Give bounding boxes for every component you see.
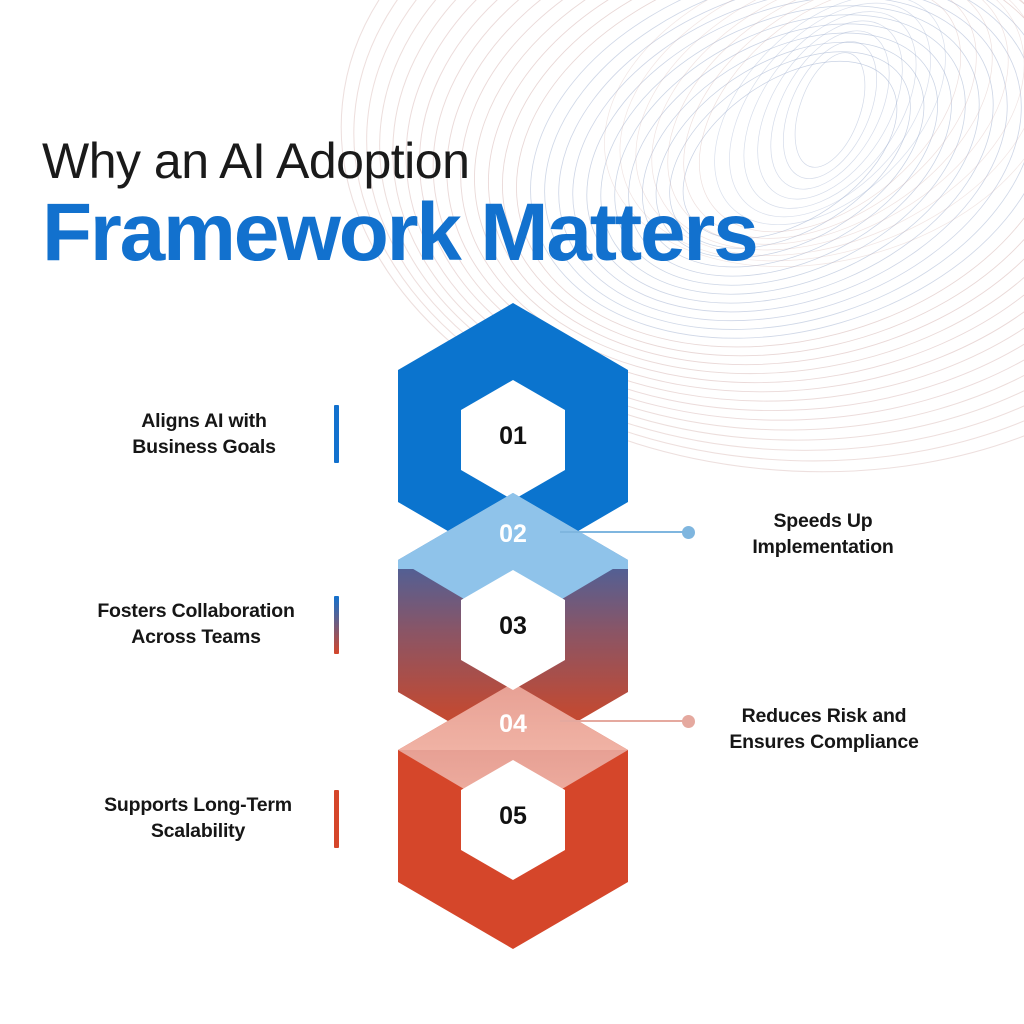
step-label-05: Supports Long-Term Scalability bbox=[78, 792, 318, 845]
step-label-01: Aligns AI with Business Goals bbox=[96, 408, 312, 461]
infographic-canvas: Why an AI Adoption Framework Matters bbox=[0, 0, 1024, 1024]
step-label-01-line2: Business Goals bbox=[96, 434, 312, 460]
connector-dot-04 bbox=[682, 715, 695, 728]
step-number-04: 04 bbox=[499, 710, 527, 738]
connector-line-04 bbox=[560, 720, 686, 722]
accent-bar-01 bbox=[334, 405, 339, 463]
step-label-03-line1: Fosters Collaboration bbox=[72, 598, 320, 624]
step-number-02: 02 bbox=[499, 520, 527, 548]
step-number-03: 03 bbox=[499, 612, 527, 640]
step-label-04-line2: Ensures Compliance bbox=[700, 729, 948, 755]
step-label-03: Fosters Collaboration Across Teams bbox=[72, 598, 320, 651]
step-label-01-line1: Aligns AI with bbox=[96, 408, 312, 434]
accent-bar-03 bbox=[334, 596, 339, 654]
step-label-02: Speeds Up Implementation bbox=[716, 508, 930, 561]
connector-line-02 bbox=[560, 531, 686, 533]
connector-dot-02 bbox=[682, 526, 695, 539]
step-label-05-line2: Scalability bbox=[78, 818, 318, 844]
step-number-05: 05 bbox=[499, 802, 527, 830]
step-label-04-line1: Reduces Risk and bbox=[700, 703, 948, 729]
step-number-01: 01 bbox=[499, 422, 527, 450]
step-label-03-line2: Across Teams bbox=[72, 624, 320, 650]
step-label-05-line1: Supports Long-Term bbox=[78, 792, 318, 818]
step-label-02-line2: Implementation bbox=[716, 534, 930, 560]
accent-bar-05 bbox=[334, 790, 339, 848]
step-label-04: Reduces Risk and Ensures Compliance bbox=[700, 703, 948, 756]
step-label-02-line1: Speeds Up bbox=[716, 508, 930, 534]
